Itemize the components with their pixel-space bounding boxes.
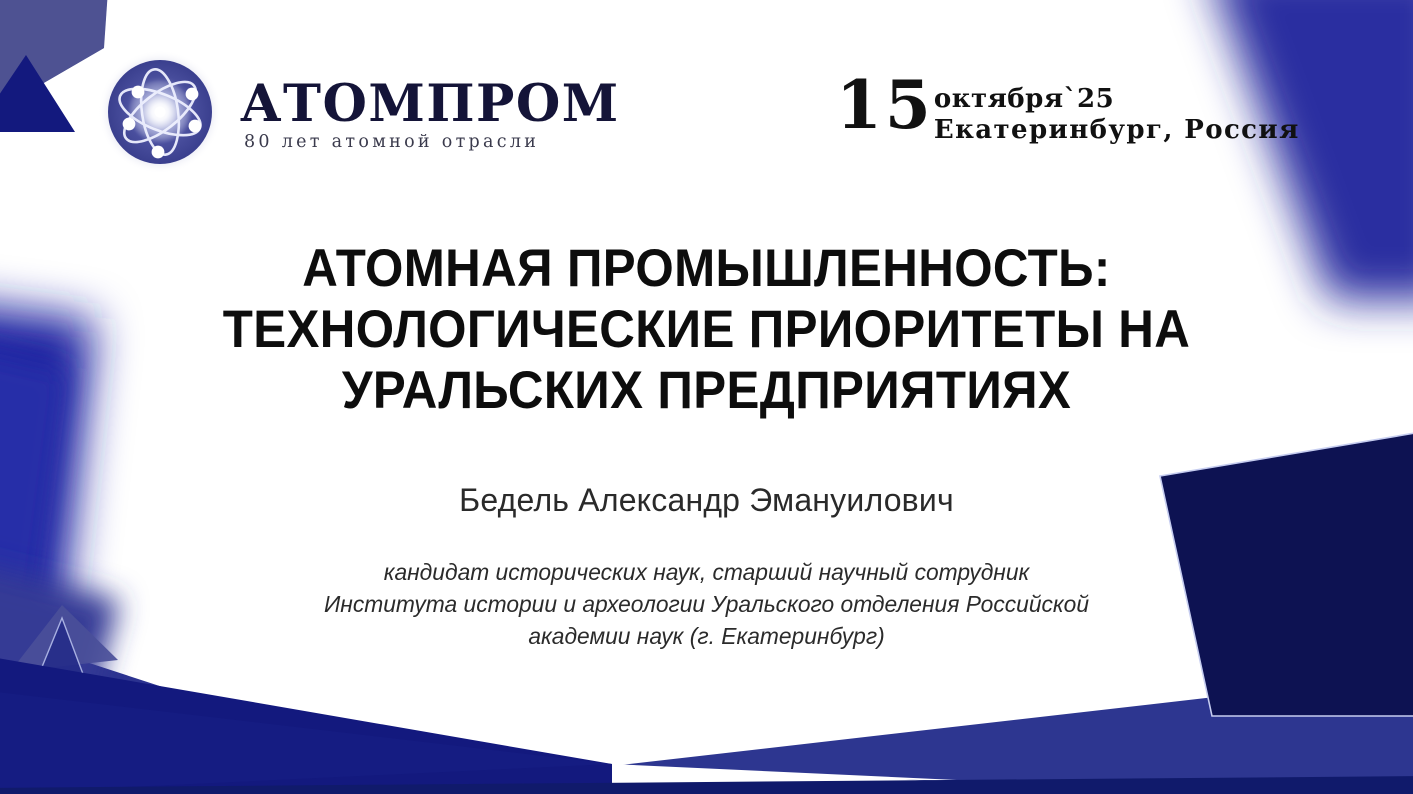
title-line-3: УРАЛЬСКИХ ПРЕДПРИЯТИЯХ [49, 360, 1363, 421]
affiliation-line-1: кандидат исторических наук, старший науч… [21, 556, 1392, 588]
event-date-place: 15 октября`25 Екатеринбург, Россия [836, 78, 1300, 145]
affiliation-line-2: Института истории и археологии Уральског… [21, 588, 1392, 620]
title-line-2: ТЕХНОЛОГИЧЕСКИЕ ПРИОРИТЕТЫ НА [49, 299, 1363, 360]
event-place: Екатеринбург, Россия [934, 115, 1300, 146]
event-month-year: октября`25 [934, 84, 1300, 115]
event-day: 15 [836, 74, 934, 137]
logo-tagline: 80 лет атомной отрасли [240, 132, 620, 152]
speaker-name: Бедель Александр Эмануилович [0, 482, 1413, 519]
logo-wordmark: АТОМПРОМ [240, 78, 620, 130]
speaker-affiliation: кандидат исторических наук, старший науч… [0, 556, 1413, 652]
decor-bottom-band-left [0, 655, 612, 794]
title-line-1: АТОМНАЯ ПРОМЫШЛЕННОСТЬ: [49, 238, 1363, 299]
title-slide: АТОМПРОМ 80 лет атомной отрасли 15 октяб… [0, 0, 1413, 794]
decor-top-left-arrow-b [0, 0, 108, 120]
page-title: АТОМНАЯ ПРОМЫШЛЕННОСТЬ: ТЕХНОЛОГИЧЕСКИЕ … [0, 238, 1413, 421]
decor-top-left-triangle [0, 55, 75, 132]
atom-icon [96, 48, 224, 176]
affiliation-line-3: академии наук (г. Екатеринбург) [21, 620, 1392, 652]
decor-top-left-arrow [0, 0, 108, 120]
decor-bottom-white-notch [612, 764, 1000, 794]
event-date-lines: октября`25 Екатеринбург, Россия [934, 78, 1300, 145]
decor-bottom-left-slab [0, 660, 540, 794]
decor-bottom-band-left-fill [0, 690, 612, 794]
decor-bottom-band-right [612, 672, 1413, 794]
decor-bottom-strip [0, 776, 1413, 794]
decor-bottom-white-arrow [742, 772, 992, 794]
brand-logo: АТОМПРОМ 80 лет атомной отрасли [96, 48, 620, 176]
logo-text: АТОМПРОМ 80 лет атомной отрасли [240, 72, 620, 152]
